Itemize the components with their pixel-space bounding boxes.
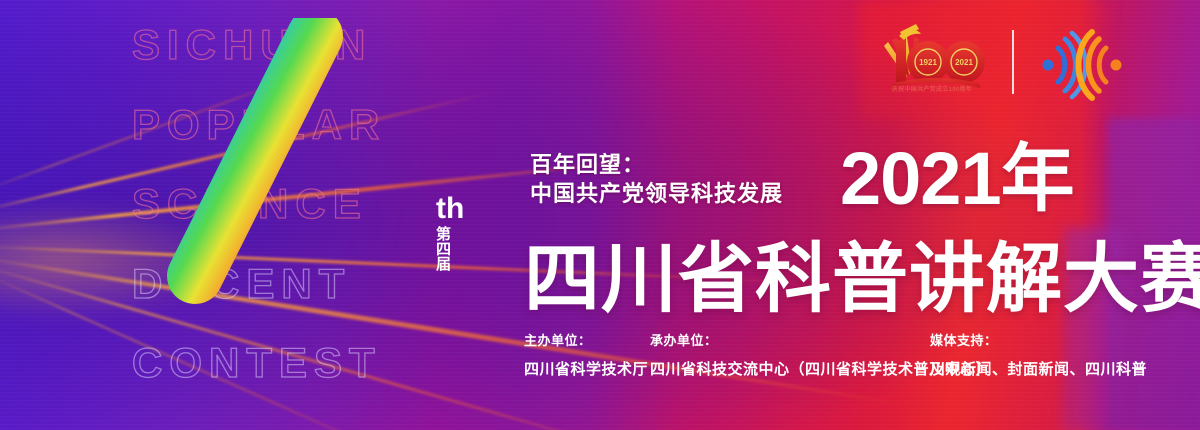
cpc-logo-caption: 庆祝中国共产党成立100周年 <box>878 84 986 93</box>
credit-host-value: 四川省科学技术厅 <box>524 358 648 379</box>
kicker-line-2: 中国共产党领导科技发展 <box>530 179 783 208</box>
credits-row: 主办单位： 四川省科学技术厅 承办单位： 四川省科技交流中心（四川省科学技术普及… <box>524 330 1164 392</box>
page-title: 四川省科普讲解大赛 <box>524 242 1200 318</box>
credit-host-heading: 主办单位： <box>524 330 648 349</box>
sound-wave-logo-icon <box>1034 26 1130 104</box>
logo-group: 1921 2021 庆祝中国共产党成立100周年 <box>876 22 1116 110</box>
cpc-year-start: 1921 <box>919 58 937 67</box>
credit-media-heading: 媒体支持： <box>930 330 1147 349</box>
credit-media: 媒体支持： 川观新闻、封面新闻、四川科普 <box>930 330 1147 379</box>
cpc-year-end: 2021 <box>955 58 973 67</box>
credit-host: 主办单位： 四川省科学技术厅 <box>524 330 648 379</box>
edition-ordinal-suffix: th <box>436 194 464 224</box>
logo-divider <box>1012 30 1014 94</box>
event-banner: SICHUAN POPULAR SCIENCE DOCENT CONTEST <box>0 0 1200 430</box>
edition-label-cn: 第四届 <box>436 227 452 272</box>
kicker-line-1: 百年回望： <box>530 150 783 179</box>
credit-media-value: 川观新闻、封面新闻、四川科普 <box>930 358 1147 379</box>
edition-emblem: SICHUAN POPULAR SCIENCE DOCENT CONTEST <box>120 18 420 388</box>
numeral-four-graphic <box>120 18 420 388</box>
kicker-text: 百年回望： 中国共产党领导科技发展 <box>530 150 783 208</box>
event-year: 2021年 <box>840 142 1074 216</box>
